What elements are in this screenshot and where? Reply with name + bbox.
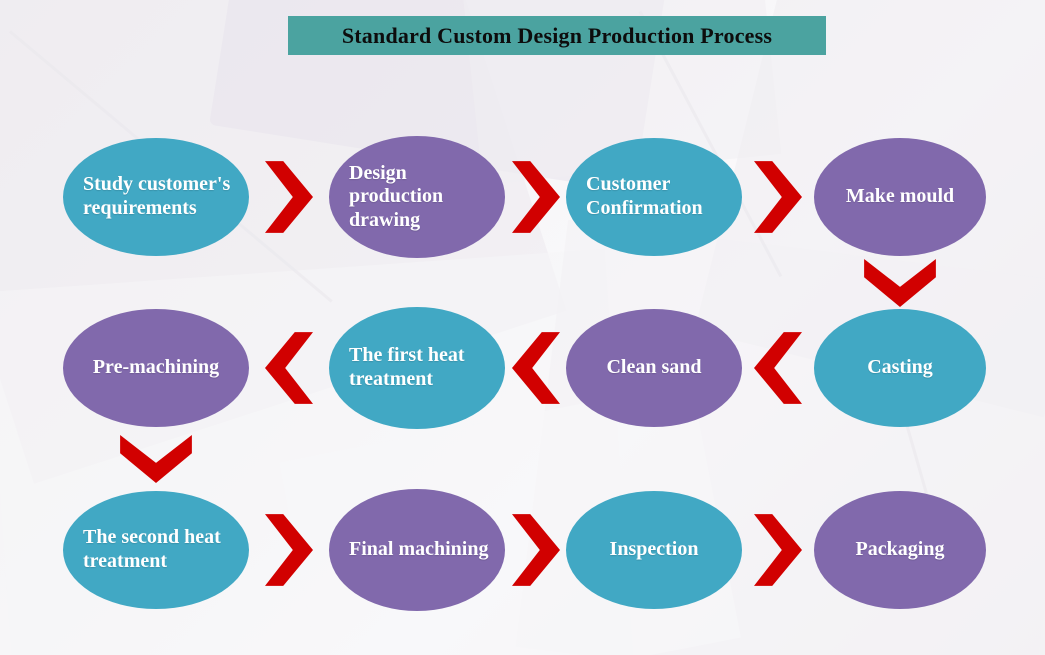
process-step-1[interactable]: Study customer's requirements <box>63 138 249 256</box>
arrow-left-icon <box>754 329 802 407</box>
process-step-label: Make mould <box>814 185 986 209</box>
arrow-right-icon <box>265 511 313 589</box>
arrow-down-icon <box>876 244 924 322</box>
diagram-title-bar: Standard Custom Design Production Proces… <box>288 16 826 55</box>
process-step-7[interactable]: The first heat treatment <box>329 307 505 429</box>
process-step-6[interactable]: Clean sand <box>566 309 742 427</box>
arrow-right-icon <box>512 511 560 589</box>
process-step-label: Customer Confirmation <box>566 173 742 220</box>
arrow-right-icon <box>754 158 802 236</box>
process-step-label: Packaging <box>814 538 986 562</box>
process-step-label: Design production drawing <box>329 162 505 233</box>
process-step-2[interactable]: Design production drawing <box>329 136 505 258</box>
process-step-label: The first heat treatment <box>329 344 505 391</box>
arrow-right-icon <box>512 158 560 236</box>
process-step-label: Casting <box>814 356 986 380</box>
arrow-right-icon <box>265 158 313 236</box>
process-flow-diagram: Study customer's requirementsDesign prod… <box>0 0 1045 655</box>
process-step-3[interactable]: Customer Confirmation <box>566 138 742 256</box>
process-step-label: Study customer's requirements <box>63 173 249 220</box>
process-step-10[interactable]: Final machining <box>329 489 505 611</box>
arrow-left-icon <box>512 329 560 407</box>
arrow-down-icon <box>132 420 180 498</box>
process-step-label: Pre-machining <box>63 356 249 380</box>
process-step-label: Inspection <box>566 538 742 562</box>
process-step-11[interactable]: Inspection <box>566 491 742 609</box>
process-step-label: The second heat treatment <box>63 526 249 573</box>
process-step-8[interactable]: Pre-machining <box>63 309 249 427</box>
process-step-5[interactable]: Casting <box>814 309 986 427</box>
process-step-label: Clean sand <box>566 356 742 380</box>
arrow-right-icon <box>754 511 802 589</box>
arrow-left-icon <box>265 329 313 407</box>
page-title: Standard Custom Design Production Proces… <box>342 23 772 49</box>
process-step-label: Final machining <box>329 538 505 562</box>
process-step-12[interactable]: Packaging <box>814 491 986 609</box>
process-step-4[interactable]: Make mould <box>814 138 986 256</box>
process-step-9[interactable]: The second heat treatment <box>63 491 249 609</box>
